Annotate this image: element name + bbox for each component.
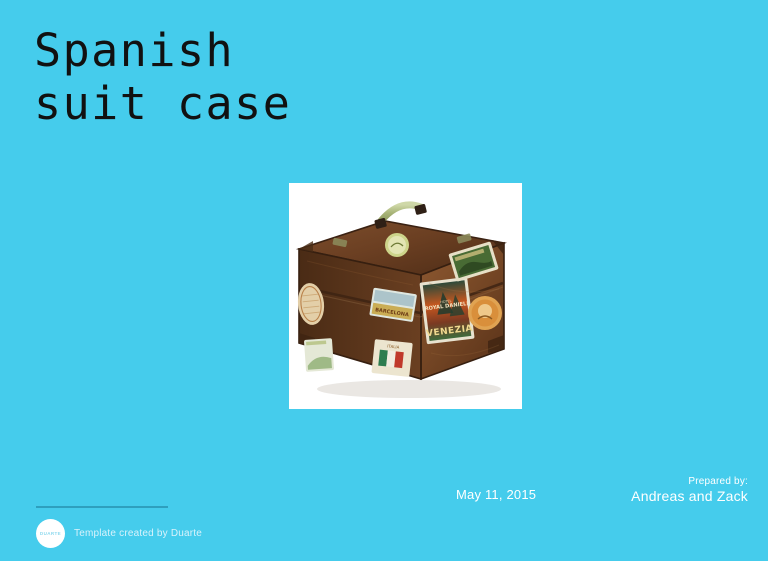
prepared-by-names: Andreas and Zack (631, 488, 748, 505)
presentation-slide: Spanish suit case (0, 0, 768, 561)
suitcase-illustration: ROYAL DANIELI HOTEL VENEZIA (289, 183, 522, 409)
duarte-logo-icon: DUARTE (36, 519, 65, 548)
slide-date: May 11, 2015 (456, 487, 536, 502)
duarte-logo-text: DUARTE (40, 531, 61, 536)
title-line-1: Spanish (34, 24, 674, 77)
template-credit-text: Template created by Duarte (74, 528, 202, 539)
prepared-by-block: Prepared by: Andreas and Zack (631, 475, 748, 505)
title-line-2: suit case (34, 77, 674, 130)
page-title: Spanish suit case (34, 24, 674, 130)
template-credit: DUARTE Template created by Duarte (36, 519, 202, 548)
prepared-by-label: Prepared by: (631, 475, 748, 488)
suitcase-image: ROYAL DANIELI HOTEL VENEZIA (289, 183, 522, 409)
footer-divider (36, 506, 168, 508)
